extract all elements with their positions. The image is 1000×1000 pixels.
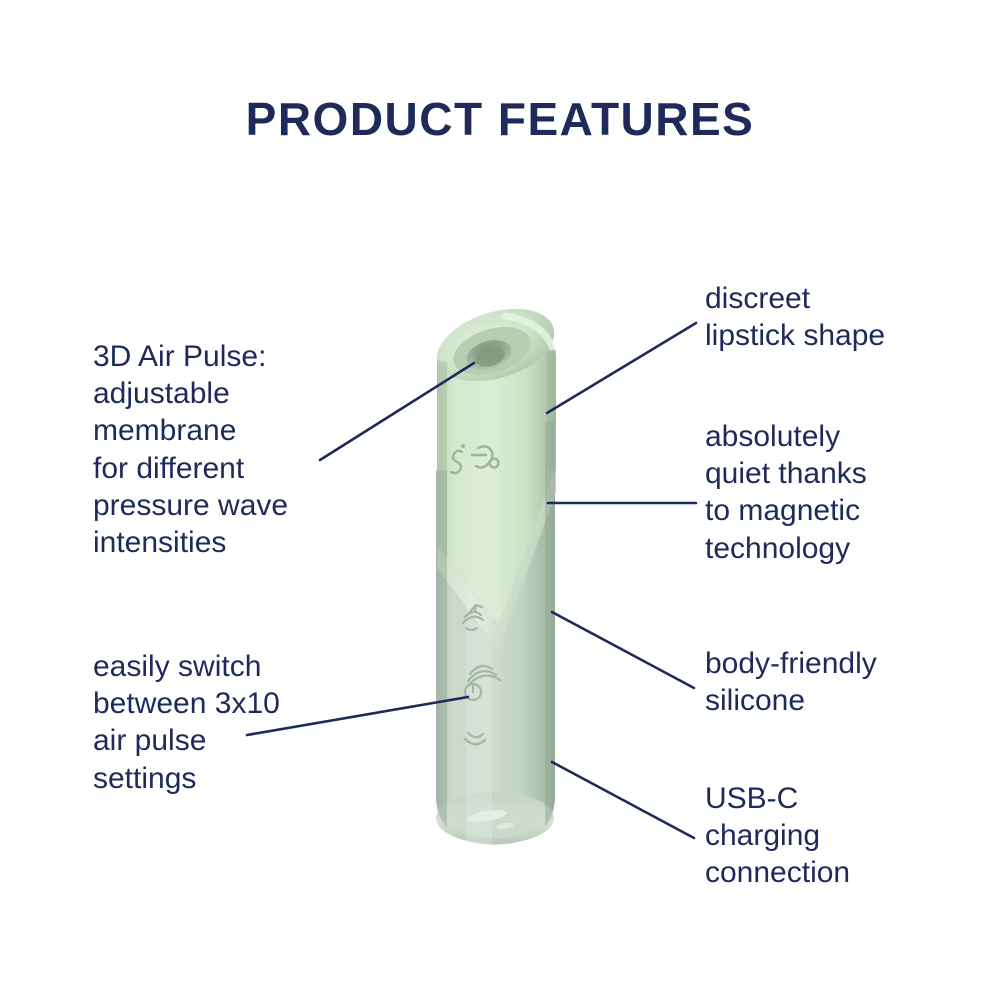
body-right-shadow: [545, 420, 556, 850]
intensity-up-icon[interactable]: [463, 605, 483, 630]
cap-left-shadow: [437, 360, 447, 556]
callout-body-friendly-silicone: body-friendly silicone: [705, 645, 955, 719]
cap-right-shadow: [547, 350, 556, 472]
product-cap-mint: [437, 322, 556, 625]
nozzle-rim-outer: [429, 296, 563, 394]
nozzle-opening: [463, 335, 515, 375]
satisfyer-logo-icon: [451, 444, 498, 473]
body-center-highlight: [466, 420, 492, 850]
callout-air-pulse: 3D Air Pulse: adjustable membrane for di…: [93, 338, 353, 561]
product-v-seam: [437, 466, 556, 650]
intensity-down-icon[interactable]: [465, 733, 485, 744]
callout-quiet-magnetic: absolutely quiet thanks to magnetic tech…: [705, 418, 955, 567]
product-features-infographic: PRODUCT FEATURES 3D Air Pulse: adjustabl…: [0, 0, 1000, 1000]
product-base: [436, 792, 554, 844]
base-highlight: [466, 808, 507, 824]
leader-line-usbc: [552, 762, 694, 838]
callout-lipstick-shape: discreet lipstick shape: [705, 280, 945, 354]
product-illustration: [429, 296, 563, 850]
power-icon[interactable]: [465, 666, 500, 700]
product-base-inner: [449, 802, 543, 838]
product-body-sage: [436, 420, 555, 845]
callout-usbc-charging: USB-C charging connection: [705, 780, 945, 892]
leader-line-silicone: [552, 612, 694, 688]
base-highlight-small: [496, 822, 515, 831]
nozzle-rim-inner: [447, 318, 536, 383]
body-left-shadow: [436, 470, 447, 850]
nozzle-bore-shadow: [473, 344, 507, 370]
nozzle-rim-highlight: [505, 316, 552, 347]
callout-switch-settings: easily switch between 3x10 air pulse set…: [93, 648, 343, 797]
page-title: PRODUCT FEATURES: [0, 92, 1000, 146]
leader-line-lipstick: [547, 323, 696, 413]
